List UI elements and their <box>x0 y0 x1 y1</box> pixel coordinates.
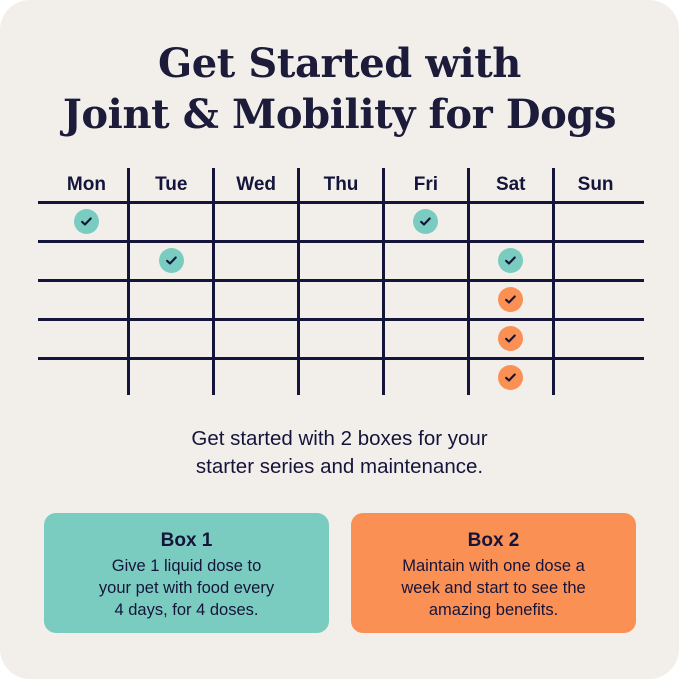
box-1-card[interactable]: Box 1Give 1 liquid dose toyour pet with … <box>44 513 329 633</box>
caption-line-1: Get started with 2 boxes for your <box>0 425 679 453</box>
calendar-cell-thu-w3[interactable] <box>299 280 384 319</box>
check-icon <box>498 326 523 351</box>
calendar-cell-sun-w2[interactable] <box>553 241 638 280</box>
calendar-cell-sat-w1[interactable] <box>468 202 553 241</box>
calendar-cell-sat-w4[interactable] <box>468 319 553 358</box>
check-icon <box>498 248 523 273</box>
calendar-cell-sun-w5[interactable] <box>553 358 638 397</box>
calendar-cell-wed-w1[interactable] <box>214 202 299 241</box>
calendar-cell-fri-w5[interactable] <box>383 358 468 397</box>
calendar-cell-tue-w3[interactable] <box>129 280 214 319</box>
box-1-body-line-2: your pet with food every <box>56 577 317 599</box>
calendar-cell-fri-w4[interactable] <box>383 319 468 358</box>
day-header-tue: Tue <box>129 168 214 202</box>
calendar-cell-mon-w4[interactable] <box>44 319 129 358</box>
box-1-body: Give 1 liquid dose toyour pet with food … <box>56 555 317 621</box>
calendar-row <box>44 241 638 280</box>
calendar-cell-wed-w2[interactable] <box>214 241 299 280</box>
calendar-cell-mon-w3[interactable] <box>44 280 129 319</box>
calendar-cell-wed-w4[interactable] <box>214 319 299 358</box>
calendar-cell-thu-w2[interactable] <box>299 241 384 280</box>
dosing-calendar: Mon Tue Wed Thu Fri Sat Sun <box>44 168 638 396</box>
infographic-card: Get Started with Joint & Mobility for Do… <box>0 0 679 679</box>
box-2-title: Box 2 <box>363 529 624 553</box>
title-line-2: Joint & Mobility for Dogs <box>0 89 679 140</box>
box-1-body-line-1: Give 1 liquid dose to <box>56 555 317 577</box>
calendar-cell-fri-w3[interactable] <box>383 280 468 319</box>
check-icon <box>498 365 523 390</box>
calendar-cell-thu-w1[interactable] <box>299 202 384 241</box>
box-1-title: Box 1 <box>56 529 317 553</box>
day-header-sun: Sun <box>553 168 638 202</box>
calendar-cell-sat-w2[interactable] <box>468 241 553 280</box>
calendar-cell-sun-w4[interactable] <box>553 319 638 358</box>
check-icon <box>159 248 184 273</box>
calendar-cell-fri-w2[interactable] <box>383 241 468 280</box>
box-1-body-line-3: 4 days, for 4 doses. <box>56 599 317 621</box>
calendar-cell-thu-w5[interactable] <box>299 358 384 397</box>
check-icon <box>74 209 99 234</box>
box-cards: Box 1Give 1 liquid dose toyour pet with … <box>44 513 636 633</box>
page-title: Get Started with Joint & Mobility for Do… <box>0 38 679 140</box>
day-header-fri: Fri <box>383 168 468 202</box>
title-line-1: Get Started with <box>0 38 679 89</box>
calendar-cell-sat-w3[interactable] <box>468 280 553 319</box>
calendar-cell-sun-w3[interactable] <box>553 280 638 319</box>
calendar-row <box>44 319 638 358</box>
calendar-cell-thu-w4[interactable] <box>299 319 384 358</box>
calendar-cell-sat-w5[interactable] <box>468 358 553 397</box>
calendar-cell-fri-w1[interactable] <box>383 202 468 241</box>
calendar-row <box>44 358 638 397</box>
calendar-caption: Get started with 2 boxes for your starte… <box>0 425 679 481</box>
box-2-body-line-3: amazing benefits. <box>363 599 624 621</box>
box-2-body-line-1: Maintain with one dose a <box>363 555 624 577</box>
check-icon <box>413 209 438 234</box>
box-2-body: Maintain with one dose aweek and start t… <box>363 555 624 621</box>
calendar-cell-tue-w5[interactable] <box>129 358 214 397</box>
day-header-mon: Mon <box>44 168 129 202</box>
calendar-body <box>44 202 638 397</box>
box-2-body-line-2: week and start to see the <box>363 577 624 599</box>
caption-line-2: starter series and maintenance. <box>0 453 679 481</box>
check-icon <box>498 287 523 312</box>
calendar-cell-tue-w2[interactable] <box>129 241 214 280</box>
calendar-cell-tue-w4[interactable] <box>129 319 214 358</box>
calendar-cell-tue-w1[interactable] <box>129 202 214 241</box>
calendar-cell-mon-w1[interactable] <box>44 202 129 241</box>
calendar-header-row: Mon Tue Wed Thu Fri Sat Sun <box>44 168 638 202</box>
day-header-wed: Wed <box>214 168 299 202</box>
calendar-cell-wed-w5[interactable] <box>214 358 299 397</box>
calendar-cell-mon-w5[interactable] <box>44 358 129 397</box>
calendar-row <box>44 280 638 319</box>
calendar-cell-sun-w1[interactable] <box>553 202 638 241</box>
day-header-sat: Sat <box>468 168 553 202</box>
calendar-cell-wed-w3[interactable] <box>214 280 299 319</box>
calendar-cell-mon-w2[interactable] <box>44 241 129 280</box>
calendar-row <box>44 202 638 241</box>
day-header-thu: Thu <box>299 168 384 202</box>
box-2-card[interactable]: Box 2Maintain with one dose aweek and st… <box>351 513 636 633</box>
